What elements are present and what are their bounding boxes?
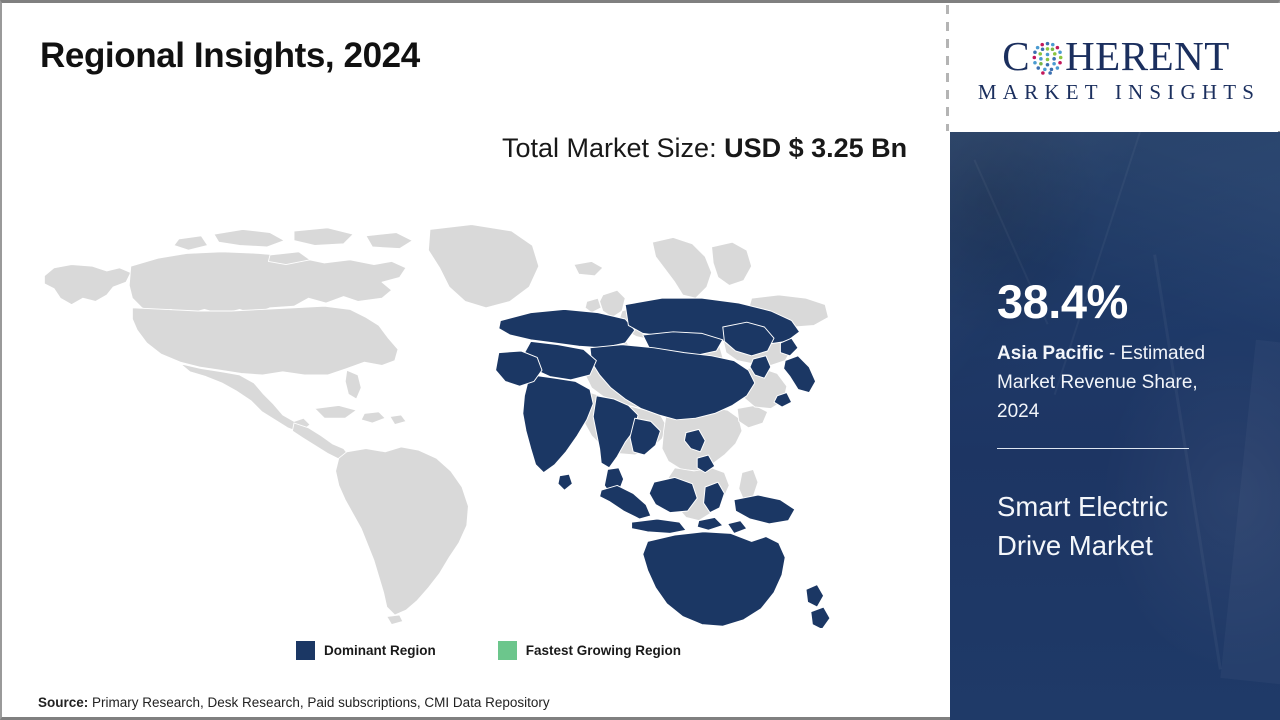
total-market-size: Total Market Size: USD $ 3.25 Bn — [502, 129, 922, 167]
legend-item-dominant-region: Dominant Region — [296, 641, 436, 660]
market-size-label: Total Market Size: — [502, 133, 717, 163]
page-title: Regional Insights, 2024 — [40, 36, 420, 76]
stat-value: 38.4% — [997, 278, 1250, 325]
logo-letter-c: C — [1002, 36, 1030, 77]
market-name: Smart Electric Drive Market — [997, 487, 1229, 565]
square-swatch-icon-dominant — [296, 641, 315, 660]
square-swatch-icon-fastest — [498, 641, 517, 660]
regional-insights-infographic: Regional Insights, 2024 Total Market Siz… — [0, 0, 1280, 720]
stat-region-name: Asia Pacific — [997, 343, 1104, 364]
logo-wordmark: C — [1002, 36, 1230, 77]
legend-label-fastest: Fastest Growing Region — [526, 643, 681, 658]
vertical-dashed-divider — [946, 5, 949, 131]
logo-tagline: MARKET INSIGHTS — [972, 82, 1260, 103]
source-note: Source: Primary Research, Desk Research,… — [38, 695, 550, 710]
panel-content: 38.4% Asia Pacific - Estimated Market Re… — [950, 132, 1280, 565]
source-label: Source: — [38, 695, 88, 710]
source-text: Primary Research, Desk Research, Paid su… — [88, 695, 549, 710]
world-map — [30, 218, 830, 628]
world-map-svg — [30, 218, 830, 628]
legend-item-fastest-growing-region: Fastest Growing Region — [498, 641, 681, 660]
coherent-market-insights-logo: C — [952, 3, 1280, 131]
logo-text-herent: HERENT — [1065, 36, 1230, 77]
dotted-sphere-icon — [1031, 39, 1064, 76]
stat-description: Asia Pacific - Estimated Market Revenue … — [997, 340, 1237, 427]
panel-divider-rule — [997, 448, 1189, 450]
left-content-panel: Regional Insights, 2024 Total Market Siz… — [2, 3, 947, 717]
map-legend: Dominant Region Fastest Growing Region — [296, 641, 681, 660]
market-size-value: USD $ 3.25 Bn — [724, 133, 907, 163]
legend-label-dominant: Dominant Region — [324, 643, 436, 658]
regional-stat-panel: 38.4% Asia Pacific - Estimated Market Re… — [950, 132, 1280, 720]
